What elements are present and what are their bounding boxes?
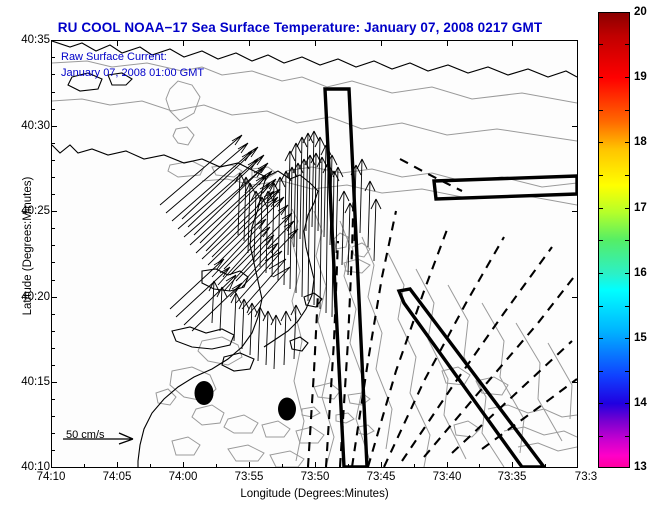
x-tick-minor — [282, 464, 283, 468]
y-tick-minor — [51, 433, 55, 434]
y-tick-major-right — [572, 382, 578, 383]
y-tick-minor — [51, 450, 55, 451]
x-tick-major-top — [512, 40, 513, 46]
x-tick-major — [117, 462, 118, 468]
colorbar-tick-right — [625, 338, 630, 339]
colorbar-tick-right — [625, 403, 630, 404]
y-tick-major — [51, 382, 57, 383]
colorbar-label: 15 — [634, 332, 647, 344]
colorbar-tick-right — [625, 240, 630, 241]
x-axis-label: 74:00 — [169, 471, 198, 483]
x-tick-major — [249, 462, 250, 468]
colorbar-tick-right — [625, 273, 630, 274]
colorbar-tick-minor — [598, 436, 603, 437]
map-plot-area: Raw Surface Current: January 07, 2008 01… — [51, 40, 578, 468]
colorbar-tick — [598, 208, 603, 209]
x-axis-label: 73:40 — [433, 471, 462, 483]
colorbar-tick-right — [625, 77, 630, 78]
colorbar-tick — [598, 338, 603, 339]
x-tick-major-top — [117, 40, 118, 46]
x-tick-major — [512, 462, 513, 468]
colorbar-tick — [598, 273, 603, 274]
colorbar-tick — [598, 403, 603, 404]
colorbar-label: 16 — [634, 267, 647, 279]
colorbar-label: 19 — [634, 71, 647, 83]
y-axis-label: 40:35 — [21, 34, 50, 46]
figure-title: RU COOL NOAA−17 Sea Surface Temperature:… — [0, 20, 600, 35]
vector-scale-legend: 50 cm/s — [61, 429, 105, 442]
colorbar-tick-right — [625, 306, 630, 307]
colorbar-tick-minor — [598, 240, 603, 241]
y-tick-minor — [51, 399, 55, 400]
current-annotation: Raw Surface Current: January 07, 2008 01… — [61, 49, 204, 81]
y-tick-minor — [51, 74, 55, 75]
y-tick-minor — [51, 245, 55, 246]
y-tick-minor — [51, 143, 55, 144]
x-axis-label: 73:50 — [301, 471, 330, 483]
colorbar-tick-minor — [598, 110, 603, 111]
x-tick-minor — [545, 464, 546, 468]
colorbar-tick-right — [625, 175, 630, 176]
colorbar-label: 18 — [634, 136, 647, 148]
x-tick-minor — [150, 464, 151, 468]
x-tick-minor — [348, 464, 349, 468]
x-axis-label: 74:10 — [37, 471, 66, 483]
colorbar-tick — [598, 77, 603, 78]
colorbar-tick-minor — [598, 175, 603, 176]
x-tick-major-top — [447, 40, 448, 46]
x-tick-minor — [84, 464, 85, 468]
y-tick-minor — [51, 416, 55, 417]
y-tick-minor — [51, 194, 55, 195]
colorbar-tick-right — [625, 12, 630, 13]
x-axis-label: 73:45 — [367, 471, 396, 483]
x-tick-major — [51, 462, 52, 468]
y-tick-minor — [51, 177, 55, 178]
x-tick-major-top — [183, 40, 184, 46]
y-tick-major-right — [572, 126, 578, 127]
colorbar-tick-right — [625, 110, 630, 111]
x-axis-title: Longitude (Degrees:Minutes) — [51, 488, 578, 500]
colorbar-tick-minor — [598, 44, 603, 45]
colorbar-tick-minor — [598, 306, 603, 307]
x-tick-minor — [479, 464, 480, 468]
x-tick-major — [447, 462, 448, 468]
y-tick-major — [51, 211, 57, 212]
y-tick-minor — [51, 57, 55, 58]
colorbar-tick-right — [625, 208, 630, 209]
station-markers — [195, 381, 297, 421]
colorbar-tick-right — [625, 142, 630, 143]
map-graphics — [52, 41, 577, 467]
y-tick-minor — [51, 348, 55, 349]
x-tick-minor — [216, 464, 217, 468]
y-tick-minor — [51, 314, 55, 315]
y-tick-minor — [51, 262, 55, 263]
colorbar-label: 14 — [634, 397, 647, 409]
y-axis-title: Latitude (Degrees:Minutes) — [22, 126, 34, 366]
colorbar-tick — [598, 12, 603, 13]
x-tick-major — [183, 462, 184, 468]
x-axis-label: 73:55 — [235, 471, 264, 483]
annotation-line-2: January 07, 2008 01:00 GMT — [61, 65, 204, 81]
x-tick-major-top — [315, 40, 316, 46]
y-tick-major — [51, 40, 57, 41]
colorbar-tick-right — [625, 467, 630, 468]
x-axis-label: 73:35 — [498, 471, 527, 483]
colorbar-tick-minor — [598, 371, 603, 372]
y-tick-minor — [51, 109, 55, 110]
y-tick-major — [51, 297, 57, 298]
colorbar-label: 17 — [634, 202, 647, 214]
y-axis-label: 40:15 — [21, 376, 50, 388]
colorbar-tick-right — [625, 371, 630, 372]
x-tick-major — [381, 462, 382, 468]
y-tick-minor — [51, 160, 55, 161]
x-axis-label: 74:05 — [103, 471, 132, 483]
y-tick-major-right — [572, 297, 578, 298]
colorbar-tick — [598, 142, 603, 143]
sst-map-figure: RU COOL NOAA−17 Sea Surface Temperature:… — [0, 0, 651, 518]
x-tick-minor — [414, 464, 415, 468]
colorbar-label: 13 — [634, 461, 647, 473]
y-tick-minor — [51, 331, 55, 332]
y-tick-major-right — [572, 211, 578, 212]
x-axis-label: 73:3 — [575, 471, 597, 483]
x-tick-major — [577, 462, 578, 468]
vector-scale-arrow-icon — [61, 429, 151, 447]
y-tick-minor — [51, 280, 55, 281]
y-tick-minor — [51, 228, 55, 229]
x-tick-major-top — [381, 40, 382, 46]
annotation-line-1: Raw Surface Current: — [61, 49, 204, 65]
colorbar-tick — [598, 467, 603, 468]
x-tick-major-top — [249, 40, 250, 46]
x-tick-major — [315, 462, 316, 468]
radar-beam-dashed-lines — [308, 159, 577, 467]
y-tick-major — [51, 126, 57, 127]
colorbar-tick-right — [625, 436, 630, 437]
y-tick-major-right — [572, 40, 578, 41]
colorbar-tick-right — [625, 44, 630, 45]
colorbar-label: 20 — [634, 6, 647, 18]
y-tick-minor — [51, 365, 55, 366]
y-tick-minor — [51, 92, 55, 93]
